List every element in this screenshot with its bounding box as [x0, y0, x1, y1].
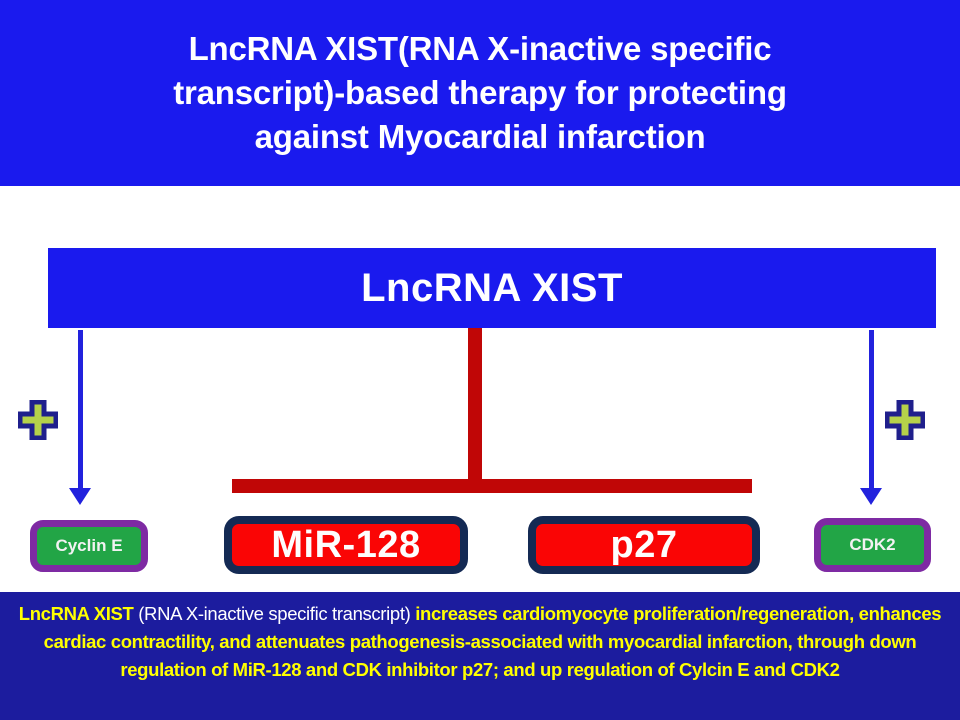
inhibition-connector-bar — [232, 479, 752, 493]
title-banner: LncRNA XIST(RNA X-inactive specific tran… — [0, 0, 960, 186]
target-node-cdk2: CDK2 — [814, 518, 931, 572]
page-title: LncRNA XIST(RNA X-inactive specific tran… — [173, 27, 787, 159]
target-node-mir-128: MiR-128 — [224, 516, 468, 574]
caption-text: LncRNA XIST (RNA X-inactive specific tra… — [18, 600, 942, 684]
caption-segment-1: LncRNA XIST — [19, 603, 138, 624]
caption-segment-plain: (RNA X-inactive specific transcript) — [138, 603, 410, 624]
target-node-p27: p27 — [528, 516, 760, 574]
target-node-label: CDK2 — [849, 535, 895, 555]
activation-arrow-right-head — [860, 488, 882, 505]
target-node-label: MiR-128 — [271, 524, 420, 567]
activation-arrow-left-line — [78, 330, 83, 490]
target-node-label: Cyclin E — [55, 536, 122, 556]
inhibition-connector-stem — [468, 328, 482, 483]
caption-band: LncRNA XIST (RNA X-inactive specific tra… — [0, 592, 960, 720]
main-node-lncrna-xist: LncRNA XIST — [48, 248, 936, 328]
plus-icon — [885, 400, 925, 440]
main-node-label: LncRNA XIST — [361, 266, 623, 311]
plus-icon — [18, 400, 58, 440]
target-node-label: p27 — [611, 524, 678, 567]
target-node-cyclin-e: Cyclin E — [30, 520, 148, 572]
activation-arrow-right-line — [869, 330, 874, 490]
activation-arrow-left-head — [69, 488, 91, 505]
